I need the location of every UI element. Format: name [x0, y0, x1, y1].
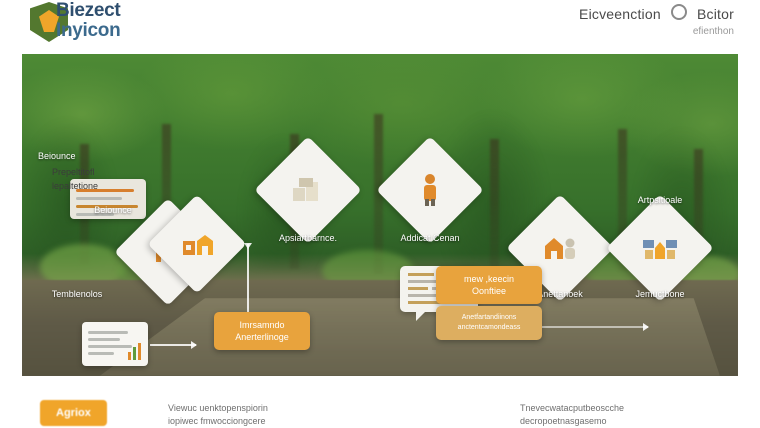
node-6-label-above: Artpsitioale [605, 194, 715, 206]
tag-right-sub-line2: anctentcamondeass [444, 323, 534, 333]
document-chart-icon [128, 342, 142, 360]
node-2[interactable] [270, 152, 346, 228]
connector-arrow-right [530, 326, 648, 328]
solar-panel-house-icon [622, 210, 698, 286]
diagram-canvas: Beiounce Temblenolos Apsiartbarnce. Addi… [22, 54, 738, 376]
node-1-caption-top: Beiounce [38, 150, 148, 162]
page-footer: Agriox Viewuc uenktopenspiorin iopiwec f… [0, 386, 760, 426]
node-1-label-below: Temblenolos [22, 288, 132, 300]
header-title-row: Eicveenction Bcitor [579, 4, 734, 22]
page-header: Biezect Inyicon Eicveenction Bcitor efie… [0, 0, 760, 44]
tag-right[interactable]: mew ,keecin Oonftiee [436, 266, 542, 304]
node-4[interactable] [162, 209, 232, 279]
connector-arrow-left [150, 344, 196, 346]
footer-column-2: Tnevecwatacputbeoscche decropoetnasgasem… [520, 402, 730, 428]
factory-building-icon [162, 209, 232, 279]
node-2-label-below: Apsiartbarnce. [253, 232, 363, 244]
info-card-left-subtitle: lepaltetione [52, 180, 162, 192]
header-right-block: Eicveenction Bcitor efienthon [579, 4, 734, 37]
brand-wordmark-line1: Biezect [56, 1, 120, 21]
connector-arrow-up [247, 244, 249, 316]
footer-column-1: Viewuc uenktopenspiorin iopiwec fmwoccio… [168, 402, 358, 428]
node-6-label-below: Jemuctbone [605, 288, 715, 300]
person-standing-icon [392, 152, 468, 228]
card-bar [88, 345, 132, 348]
header-subtitle: efienthon [579, 26, 734, 37]
header-title-right: Bcitor [697, 6, 734, 22]
node-6[interactable] [622, 210, 698, 286]
tag-right-sub[interactable]: Anetfartandiinons anctentcamondeass [436, 306, 542, 340]
footer-column-2-line2: decropoetnasgasemo [520, 415, 730, 428]
header-title-left: Eicveenction [579, 6, 661, 22]
footer-column-1-line2: iopiwec fmwocciongcere [168, 415, 358, 428]
stacked-boxes-icon [270, 152, 346, 228]
card-bar [88, 331, 128, 334]
card-bar [76, 197, 122, 200]
node-3[interactable] [392, 152, 468, 228]
node-1-label-above: Beiounce [58, 204, 168, 216]
tree-trunk [490, 139, 499, 269]
cta-button[interactable]: Agriox [40, 400, 107, 426]
brand-wordmark-line2: Inyicon [56, 21, 120, 41]
card-bar [88, 352, 114, 355]
document-card-bars [88, 328, 142, 360]
tag-right-line1: mew ,keecin [444, 273, 534, 285]
footer-column-1-line1: Viewuc uenktopenspiorin [168, 402, 358, 415]
card-bar [88, 338, 120, 341]
tag-center-line1: Imrsamndo [222, 319, 302, 331]
brand-wordmark: Biezect Inyicon [56, 1, 120, 41]
footer-column-2-line1: Tnevecwatacputbeoscche [520, 402, 730, 415]
tag-center-line2: Anerterlinoge [222, 331, 302, 343]
node-3-label-below: Addicat Cenan [375, 232, 485, 244]
document-card-bottom-left[interactable] [82, 322, 148, 366]
tag-right-line2: Oonftiee [444, 285, 534, 297]
tag-right-sub-line1: Anetfartandiinons [444, 313, 534, 323]
circle-badge-icon [671, 4, 687, 20]
tag-center[interactable]: Imrsamndo Anerterlinoge [214, 312, 310, 350]
info-card-left-title: Prepeltitofl [52, 166, 162, 178]
